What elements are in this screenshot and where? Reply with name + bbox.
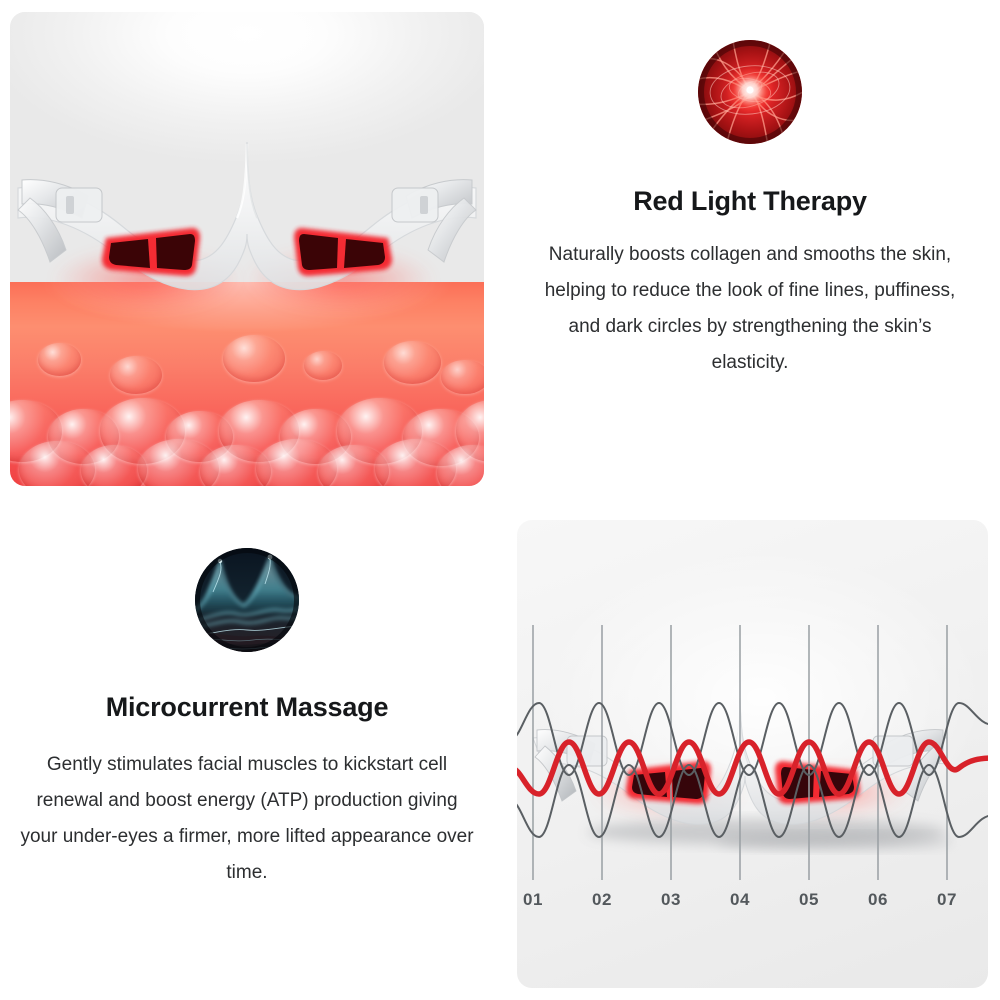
feature-title-microcurrent-massage: Microcurrent Massage xyxy=(12,692,482,723)
under-eye-led-device-icon xyxy=(10,12,484,486)
red-light-plasma-icon xyxy=(698,40,802,144)
page-root: Red Light Therapy Naturally boosts colla… xyxy=(0,0,1000,1000)
feature-microcurrent-massage: Microcurrent Massage Gently stimulates f… xyxy=(12,548,482,891)
microcurrent-wave-icon xyxy=(195,548,299,652)
feature-body-red-light-therapy: Naturally boosts collagen and smooths th… xyxy=(540,237,960,381)
feature-body-microcurrent-massage: Gently stimulates facial muscles to kick… xyxy=(20,747,475,891)
product-image-panel xyxy=(10,12,484,486)
microcurrent-wave-chart-panel: 01 02 03 04 05 06 07 xyxy=(517,520,988,988)
feature-red-light-therapy: Red Light Therapy Naturally boosts colla… xyxy=(516,40,984,381)
chart-waves-and-grid xyxy=(517,520,988,988)
feature-title-red-light-therapy: Red Light Therapy xyxy=(516,186,984,217)
